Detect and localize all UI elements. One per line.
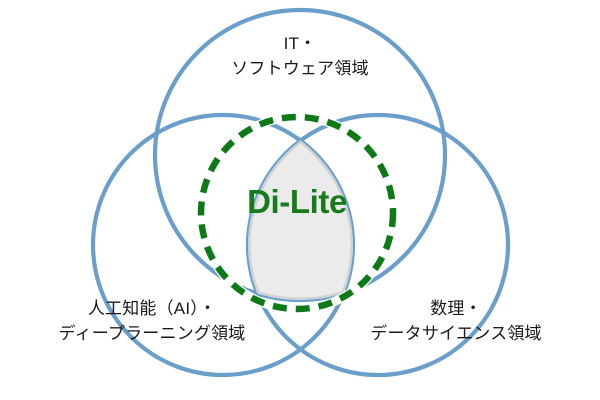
label-it-software: IT・ ソフトウェア領域 [160,32,440,81]
di-lite-title: Di-Lite [197,185,397,218]
label-math-data-science-line2: データサイエンス領域 [318,322,594,347]
label-ai-deep-learning: 人工知能（AI）・ ディープラーニング領域 [2,297,302,346]
label-it-software-line2: ソフトウェア領域 [160,57,440,82]
label-ai-deep-learning-line1: 人工知能（AI）・ [2,297,302,322]
label-math-data-science-line1: 数理・ [318,297,594,322]
label-math-data-science: 数理・ データサイエンス領域 [318,297,594,346]
label-it-software-line1: IT・ [160,32,440,57]
venn-diagram: Di-Lite IT・ ソフトウェア領域 人工知能（AI）・ ディープラーニング… [0,0,600,400]
label-ai-deep-learning-line2: ディープラーニング領域 [2,322,302,347]
